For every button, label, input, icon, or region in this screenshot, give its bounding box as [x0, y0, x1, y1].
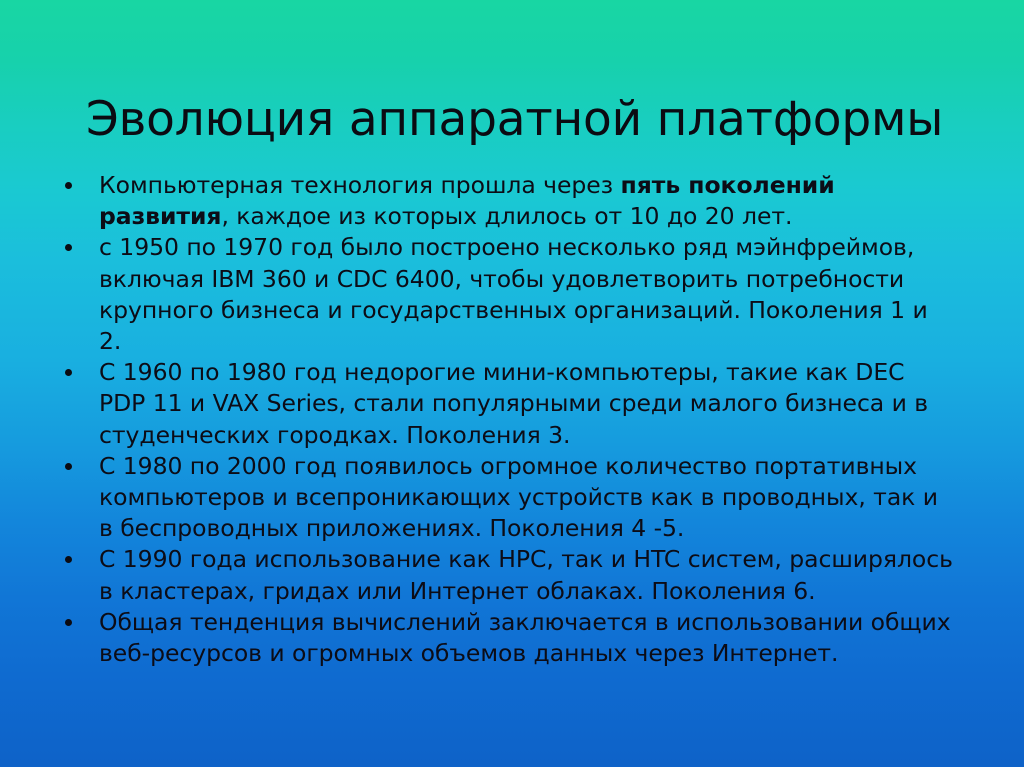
- slide-canvas: Эволюция аппаратной платформы Компьютерн…: [0, 0, 1024, 767]
- list-item-text: С 1990 года использование как HPC, так и…: [99, 545, 953, 604]
- list-item-text: С 1980 по 2000 год появилось огромное ко…: [99, 452, 938, 542]
- list-item-text: Компьютерная технология прошла через пят…: [99, 171, 835, 230]
- body-text: с 1950 по 1970 год было построено нескол…: [99, 233, 928, 355]
- list-item: С 1990 года использование как HPC, так и…: [56, 544, 956, 606]
- list-item-text: С 1960 по 1980 год недорогие мини-компью…: [99, 358, 928, 448]
- list-item-text: Общая тенденция вычислений заключается в…: [99, 608, 951, 667]
- bullet-list: Компьютерная технология прошла через пят…: [56, 170, 956, 669]
- bullet-dot-icon: [65, 556, 72, 563]
- list-item: с 1950 по 1970 год было построено нескол…: [56, 232, 956, 357]
- bullet-dot-icon: [65, 619, 72, 626]
- slide-body: Компьютерная технология прошла через пят…: [56, 170, 956, 669]
- list-item: Компьютерная технология прошла через пят…: [56, 170, 956, 232]
- bullet-dot-icon: [65, 369, 72, 376]
- body-text: Общая тенденция вычислений заключается в…: [99, 608, 951, 667]
- bullet-dot-icon: [65, 182, 72, 189]
- body-text: С 1980 по 2000 год появилось огромное ко…: [99, 452, 938, 542]
- body-text: С 1990 года использование как HPC, так и…: [99, 545, 953, 604]
- list-item-text: с 1950 по 1970 год было построено нескол…: [99, 233, 928, 355]
- list-item: С 1960 по 1980 год недорогие мини-компью…: [56, 357, 956, 451]
- body-text: , каждое из которых длилось от 10 до 20 …: [221, 202, 792, 230]
- bullet-dot-icon: [65, 244, 72, 251]
- body-text: С 1960 по 1980 год недорогие мини-компью…: [99, 358, 928, 448]
- list-item: Общая тенденция вычислений заключается в…: [56, 607, 956, 669]
- list-item: С 1980 по 2000 год появилось огромное ко…: [56, 451, 956, 545]
- body-text: Компьютерная технология прошла через: [99, 171, 621, 199]
- page-title: Эволюция аппаратной платформы: [86, 92, 946, 148]
- bullet-dot-icon: [65, 463, 72, 470]
